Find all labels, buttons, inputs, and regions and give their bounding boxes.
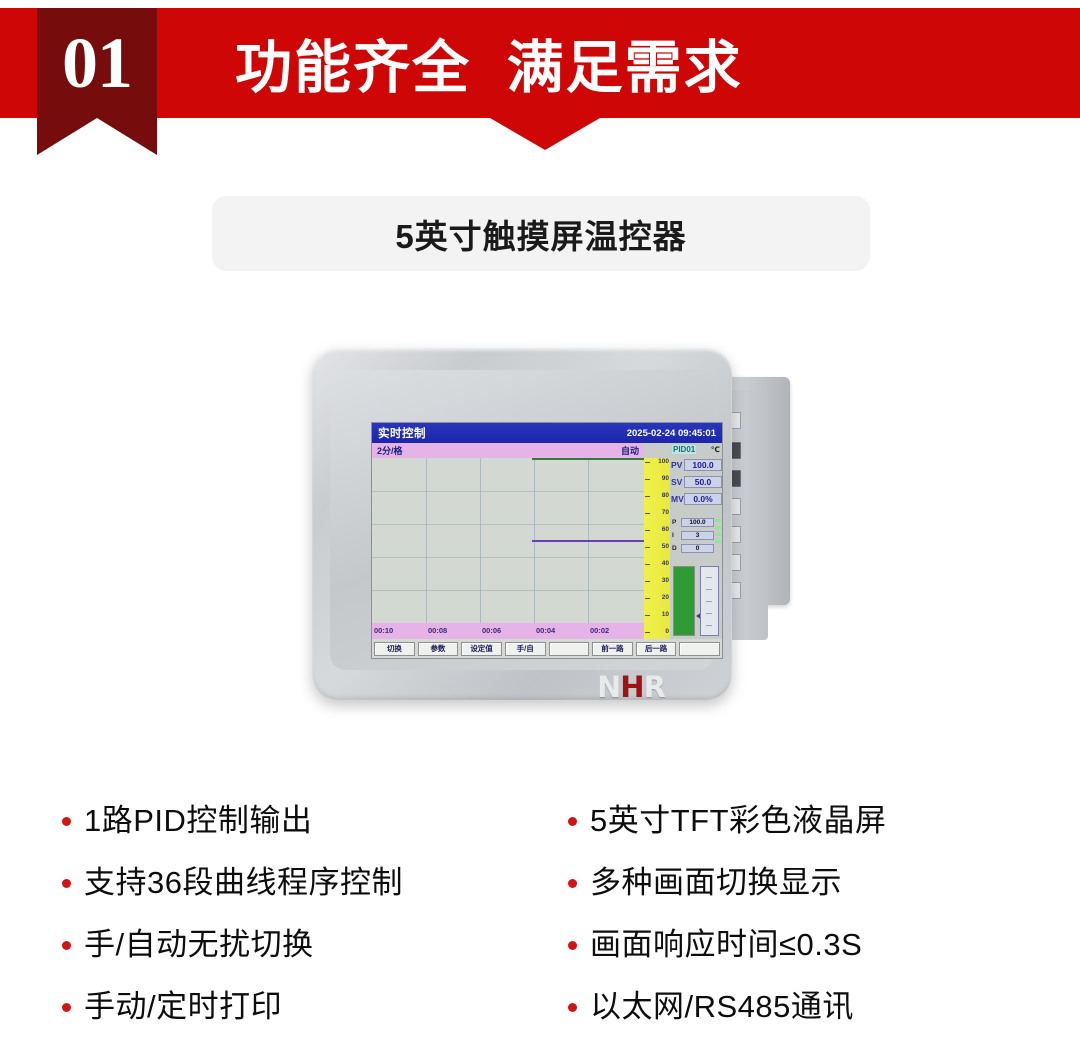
lcd-title-bar: 实时控制 2025-02-24 09:45:01 [372, 423, 722, 443]
device-front-bezel: 实时控制 2025-02-24 09:45:01 2分/格 自动 [312, 348, 732, 700]
param-row-p: P 100.0 [670, 517, 714, 527]
feature-label: 手动/定时打印 [84, 981, 282, 1026]
bullet-dot-icon [62, 941, 71, 950]
chart-trace-pv [532, 458, 644, 460]
logo-letter-n: N [597, 670, 620, 704]
chart-gridline-v [426, 458, 427, 623]
time-axis-label: 00:10 [374, 626, 393, 635]
softkey-blank-2[interactable] [679, 642, 720, 656]
readout-row-pv: PV 100.0 [670, 458, 722, 472]
scale-tick-label: 80 [662, 493, 669, 500]
feature-item: 手动/定时打印 [62, 981, 403, 1026]
page-title: 功能齐全 满足需求 [235, 8, 743, 118]
logo-letter-r: R [644, 670, 665, 704]
bullet-dot-icon [568, 817, 577, 826]
mv-label: MV [670, 494, 684, 504]
scale-tick-label: 10 [662, 612, 669, 619]
scale-tick-label: 90 [662, 476, 669, 483]
d-value: 0 [681, 544, 714, 553]
bullet-dot-icon [568, 941, 577, 950]
feature-item: 以太网/RS485通讯 [568, 981, 887, 1026]
softkey-blank-1[interactable] [549, 642, 590, 656]
logo-letter-h: H [620, 670, 643, 704]
scale-tick-label: 0 [665, 629, 669, 636]
secondary-bar-graph [700, 566, 719, 636]
channel-name-label: PID01 [672, 445, 696, 454]
param-row-d: D 0 [670, 543, 714, 553]
scale-tick-label: 20 [662, 595, 669, 602]
chart-header-bar: 2分/格 自动 [372, 443, 644, 458]
softkey-next-channel[interactable]: 后一路 [636, 642, 677, 656]
softkey-prev-channel[interactable]: 前一路 [592, 642, 633, 656]
mv-value: 0.0% [684, 493, 722, 505]
feature-item: 多种画面切换显示 [568, 857, 887, 902]
i-value: 3 [681, 531, 714, 540]
readout-row-sv[interactable]: SV 50.0 [670, 475, 722, 489]
feature-label: 以太网/RS485通讯 [590, 981, 854, 1026]
scale-tick-label: 100 [658, 459, 669, 466]
feature-label: 画面响应时间≤0.3S [590, 919, 862, 964]
channel-header: PID01 ℃ [670, 443, 722, 456]
chart-time-axis: 00:10 00:08 00:06 00:04 00:02 [372, 623, 644, 639]
chart-gridline-h [372, 524, 644, 525]
feature-item: 1路PID控制输出 [62, 795, 403, 840]
unit-label: ℃ [711, 445, 720, 454]
bullet-dot-icon [568, 879, 577, 888]
readout-panel: PID01 ℃ PV 100.0 SV 50.0 MV 0.0% P 1 [670, 443, 722, 639]
status-led-indicator [715, 540, 721, 543]
scale-tick-label: 60 [662, 527, 669, 534]
softkey-manual-auto[interactable]: 手/自 [505, 642, 546, 656]
feature-column-right: 5英寸TFT彩色液晶屏 多种画面切换显示 画面响应时间≤0.3S 以太网/RS4… [568, 795, 887, 1043]
chart-mode-label: 自动 [621, 444, 639, 457]
softkey-switch[interactable]: 切换 [374, 642, 415, 656]
p-label: P [670, 519, 681, 526]
scale-tick-label: 50 [662, 544, 669, 551]
chart-gridline-v [480, 458, 481, 623]
scale-tick-label: 70 [662, 510, 669, 517]
feature-label: 多种画面切换显示 [590, 857, 842, 902]
i-label: I [670, 532, 681, 539]
feature-item: 5英寸TFT彩色液晶屏 [568, 795, 887, 840]
bullet-dot-icon [62, 1003, 71, 1012]
lcd-softkey-bar: 切换 参数 设定值 手/自 前一路 后一路 [372, 639, 722, 658]
chart-gridline-h [372, 557, 644, 558]
bullet-dot-icon [62, 879, 71, 888]
chart-gridline-h [372, 491, 644, 492]
status-led-indicator [715, 519, 721, 522]
time-axis-label: 00:04 [536, 626, 555, 635]
lcd-screen[interactable]: 实时控制 2025-02-24 09:45:01 2分/格 自动 [372, 423, 722, 658]
chart-timebase-label: 2分/格 [377, 444, 403, 457]
time-axis-label: 00:02 [590, 626, 609, 635]
status-led-indicator [715, 526, 721, 529]
softkey-setpoint[interactable]: 设定值 [461, 642, 502, 656]
feature-list: 1路PID控制输出 支持36段曲线程序控制 手/自动无扰切换 手动/定时打印 5… [0, 795, 1080, 1045]
feature-label: 手/自动无扰切换 [84, 919, 314, 964]
bullet-dot-icon [62, 817, 71, 826]
feature-label: 5英寸TFT彩色液晶屏 [590, 795, 887, 840]
status-led-indicator [715, 533, 721, 536]
banner-arrow-pointer [490, 118, 600, 150]
feature-item: 支持36段曲线程序控制 [62, 857, 403, 902]
ribbon-notch [37, 118, 157, 155]
param-row-i: I 3 [670, 530, 714, 540]
output-bar-graph [673, 566, 695, 636]
feature-item: 画面响应时间≤0.3S [568, 919, 887, 964]
chart-gridline-h [372, 590, 644, 591]
bullet-dot-icon [568, 1003, 577, 1012]
pv-label: PV [670, 460, 684, 470]
chart-value-scale: 100 90 80 70 60 50 40 30 20 10 0 [644, 458, 670, 639]
section-number-label: 01 [37, 8, 157, 118]
sv-value: 50.0 [684, 476, 722, 488]
device-illustration: 实时控制 2025-02-24 09:45:01 2分/格 自动 [300, 330, 880, 730]
sv-label: SV [670, 477, 684, 487]
feature-item: 手/自动无扰切换 [62, 919, 403, 964]
pv-value: 100.0 [684, 459, 722, 471]
d-label: D [670, 545, 681, 552]
brand-logo: NHR [597, 670, 665, 704]
feature-column-left: 1路PID控制输出 支持36段曲线程序控制 手/自动无扰切换 手动/定时打印 [62, 795, 403, 1043]
lcd-screen-title: 实时控制 [378, 425, 426, 441]
softkey-parameters[interactable]: 参数 [418, 642, 459, 656]
readout-row-mv: MV 0.0% [670, 492, 722, 506]
output-bar-fill [674, 567, 694, 635]
product-subtitle-text: 5英寸触摸屏温控器 [395, 210, 686, 258]
trend-chart-plot-area [372, 458, 644, 623]
scale-tick-label: 30 [662, 578, 669, 585]
time-axis-label: 00:08 [428, 626, 447, 635]
feature-label: 支持36段曲线程序控制 [84, 857, 403, 902]
product-subtitle-pill: 5英寸触摸屏温控器 [212, 196, 870, 271]
chart-trace-sv [532, 540, 644, 542]
p-value: 100.0 [681, 518, 714, 527]
feature-label: 1路PID控制输出 [84, 795, 312, 840]
lcd-timestamp: 2025-02-24 09:45:01 [627, 428, 716, 439]
time-axis-label: 00:06 [482, 626, 501, 635]
scale-tick-label: 40 [662, 561, 669, 568]
